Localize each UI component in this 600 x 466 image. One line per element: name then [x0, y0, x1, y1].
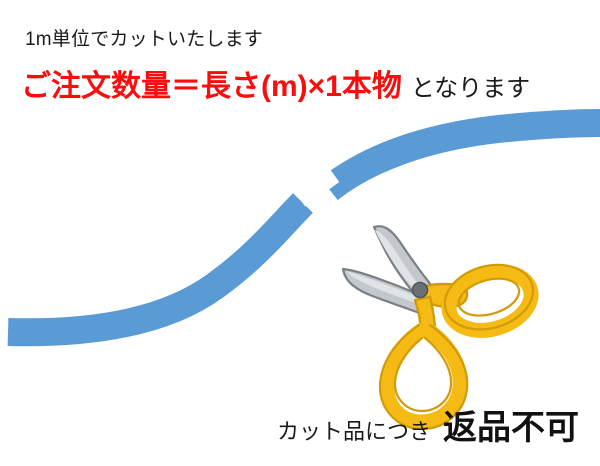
no-return-prefix: カット品につき: [277, 419, 431, 444]
blue-cable-right-segment: [329, 123, 600, 189]
scissors: [343, 226, 541, 429]
no-return-notice: カット品につき返品不可: [277, 411, 579, 445]
cut-service-notice-canvas: 1m単位でカットいたします ご注文数量＝長さ(m)×1本物となります カット品に…: [0, 0, 600, 466]
order-quantity-suffix: となります: [402, 75, 530, 102]
order-quantity-emphasis: ご注文数量＝長さ(m)×1本物: [21, 70, 402, 103]
blue-cable-left-segment: [8, 203, 303, 332]
headline-cut-unit: 1m単位でカットいたします: [25, 30, 263, 49]
order-quantity-line: ご注文数量＝長さ(m)×1本物となります: [21, 72, 530, 102]
no-return-emphasis: 返品不可: [431, 409, 579, 447]
scissors-pivot-screw: [413, 283, 428, 298]
